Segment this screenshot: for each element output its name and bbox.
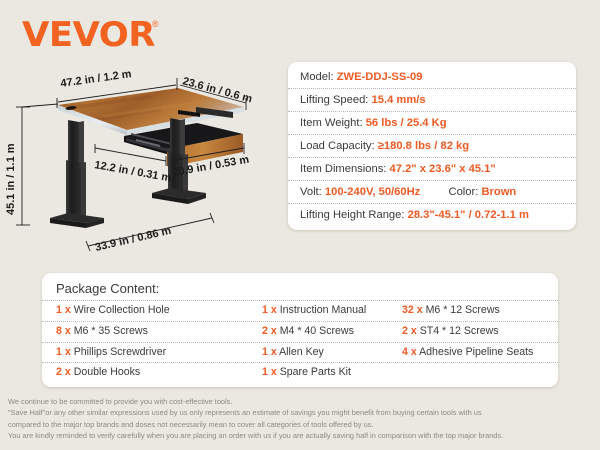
package-row: 2 x Double Hooks 1 x Spare Parts Kit <box>42 363 558 383</box>
package-item: 4 x Adhesive Pipeline Seats <box>388 346 558 360</box>
package-item-qty: 4 x <box>402 346 417 358</box>
package-item-qty: 2 x <box>56 366 71 378</box>
spec-label-load-capacity: Load Capacity: <box>300 140 375 152</box>
package-item-qty: 2 x <box>402 325 417 337</box>
footer-line: We continue to be committed to provide y… <box>8 396 596 407</box>
footer-line: You are kindly reminded to verify carefu… <box>8 430 596 441</box>
package-item-qty: 1 x <box>262 304 277 316</box>
package-item: 1 x Phillips Screwdriver <box>42 346 248 360</box>
footer-disclaimer: We continue to be committed to provide y… <box>8 396 596 442</box>
package-item-name: ST4 * 12 Screws <box>420 325 499 337</box>
package-item-name: Allen Key <box>279 346 324 358</box>
footer-line: compared to the major top brands and dos… <box>8 419 596 430</box>
package-item-name: M6 * 12 Screws <box>426 304 500 316</box>
spec-label-lifting-speed: Lifting Speed: <box>300 94 368 106</box>
package-item: 8 x M6 * 35 Screws <box>42 325 248 339</box>
spec-value-lifting-speed: 15.4 mm/s <box>372 94 426 106</box>
package-item-qty: 1 x <box>262 346 277 358</box>
package-content-panel: Package Content: 1 x Wire Collection Hol… <box>42 273 558 387</box>
package-item: 32 x M6 * 12 Screws <box>388 304 558 318</box>
package-item-qty: 2 x <box>262 325 277 337</box>
package-item-empty <box>388 366 558 380</box>
package-item-qty: 1 x <box>56 346 71 358</box>
package-item: 2 x ST4 * 12 Screws <box>388 325 558 339</box>
spec-label-color: Color: <box>449 186 479 198</box>
package-row: 8 x M6 * 35 Screws 2 x M4 * 40 Screws 2 … <box>42 322 558 343</box>
package-item-qty: 8 x <box>56 325 71 337</box>
spec-label-model: Model: <box>300 71 334 83</box>
package-item: 2 x M4 * 40 Screws <box>248 325 388 339</box>
package-item-name: Adhesive Pipeline Seats <box>419 346 533 358</box>
vevor-logo: VEVOR ® <box>22 18 158 52</box>
spec-value-model: ZWE-DDJ-SS-09 <box>337 71 423 83</box>
product-illustration: 47.2 in / 1.2 m 23.6 in / 0.6 m 45.1 in … <box>0 60 285 255</box>
spec-value-item-dimensions: 47.2" x 23.6" x 45.1" <box>390 163 496 175</box>
package-item-qty: 32 x <box>402 304 423 316</box>
spec-row-lifting-height-range: Lifting Height Range: 28.3"-45.1" / 0.72… <box>288 204 576 226</box>
specification-panel: Model: ZWE-DDJ-SS-09 Lifting Speed: 15.4… <box>288 62 576 230</box>
spec-row-volt-color: Volt: 100-240V, 50/60Hz Color: Brown <box>288 181 576 204</box>
footer-line: "Save Half"or any other similar expressi… <box>8 407 596 418</box>
package-content-title: Package Content: <box>42 278 558 301</box>
spec-value-lifting-height-range: 28.3"-45.1" / 0.72-1.1 m <box>408 209 529 221</box>
package-item-qty: 1 x <box>56 304 71 316</box>
package-item: 1 x Allen Key <box>248 346 388 360</box>
package-item: 1 x Wire Collection Hole <box>42 304 248 318</box>
dimension-label-height-left: 45.1 in / 1.1 m <box>5 143 17 215</box>
spec-row-load-capacity: Load Capacity: ≥180.8 lbs / 82 kg <box>288 135 576 158</box>
package-item-qty: 1 x <box>262 366 277 378</box>
package-row: 1 x Wire Collection Hole 1 x Instruction… <box>42 301 558 322</box>
package-item-name: M4 * 40 Screws <box>280 325 354 337</box>
brand-wordmark: VEVOR <box>22 18 155 52</box>
spec-value-load-capacity: ≥180.8 lbs / 82 kg <box>378 140 469 152</box>
spec-row-item-dimensions: Item Dimensions: 47.2" x 23.6" x 45.1" <box>288 158 576 181</box>
spec-label-lifting-height-range: Lifting Height Range: <box>300 209 404 221</box>
package-item-name: M6 * 35 Screws <box>74 325 148 337</box>
spec-label-volt: Volt: <box>300 186 322 198</box>
package-item: 2 x Double Hooks <box>42 366 248 380</box>
package-item-name: Phillips Screwdriver <box>74 346 166 358</box>
spec-label-item-dimensions: Item Dimensions: <box>300 163 386 175</box>
package-item-name: Double Hooks <box>74 366 141 378</box>
package-item-name: Spare Parts Kit <box>280 366 351 378</box>
package-row: 1 x Phillips Screwdriver 1 x Allen Key 4… <box>42 343 558 364</box>
spec-label-item-weight: Item Weight: <box>300 117 363 129</box>
package-item-name: Wire Collection Hole <box>74 304 170 316</box>
dimension-label-drawer-width: 12.2 in / 0.31 m <box>93 159 172 184</box>
package-item-name: Instruction Manual <box>280 304 367 316</box>
package-item: 1 x Spare Parts Kit <box>248 366 388 380</box>
spec-value-item-weight: 56 lbs / 25.4 Kg <box>366 117 447 129</box>
package-item: 1 x Instruction Manual <box>248 304 388 318</box>
spec-value-color: Brown <box>481 186 516 198</box>
spec-row-lifting-speed: Lifting Speed: 15.4 mm/s <box>288 89 576 112</box>
dimension-label-width-top: 47.2 in / 1.2 m <box>60 68 133 90</box>
spec-row-item-weight: Item Weight: 56 lbs / 25.4 Kg <box>288 112 576 135</box>
spec-row-model: Model: ZWE-DDJ-SS-09 <box>288 66 576 89</box>
dimension-label-base-depth: 33.9 in / 0.86 m <box>94 225 173 254</box>
spec-value-volt: 100-240V, 50/60Hz <box>325 186 420 198</box>
